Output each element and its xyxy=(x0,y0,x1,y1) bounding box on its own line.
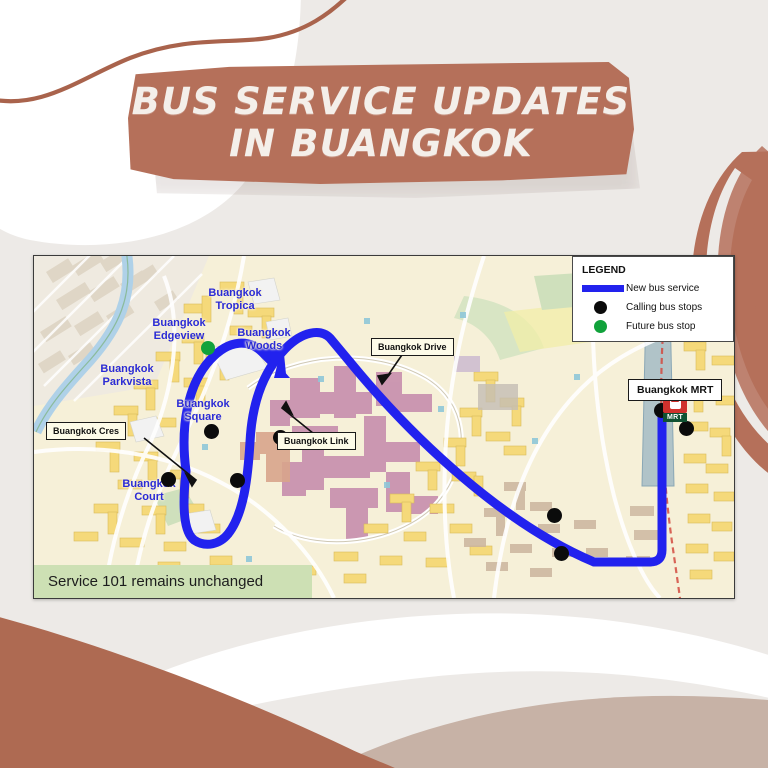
service-note-text: Service 101 remains unchanged xyxy=(48,573,263,590)
legend-item-new-bus-service: New bus service xyxy=(582,281,725,295)
service-note-band: Service 101 remains unchanged xyxy=(34,565,312,598)
callout-buangkok-link[interactable]: Buangkok Link xyxy=(277,432,356,450)
calling-bus-stop[interactable] xyxy=(554,546,569,561)
legend-swatch-green-dot xyxy=(582,320,626,333)
calling-bus-stop[interactable] xyxy=(547,508,562,523)
legend-label-future-bus-stop: Future bus stop xyxy=(626,321,695,332)
title-text-group: Bus Service Updates in Buangkok xyxy=(128,62,634,184)
calling-bus-stop[interactable] xyxy=(161,472,176,487)
legend-swatch-black-dot xyxy=(582,301,626,314)
legend-panel: LEGEND New bus service Calling bus stops… xyxy=(572,256,734,342)
poster-canvas: Bus Service Updates in Buangkok xyxy=(0,0,768,768)
title-banner: Bus Service Updates in Buangkok xyxy=(128,62,640,190)
mrt-label: MRT xyxy=(663,413,687,422)
calling-bus-stop[interactable] xyxy=(679,421,694,436)
map-container[interactable]: Buangkok Tropica Buangkok Edgeview Buang… xyxy=(33,255,735,599)
page-title-line-2: in Buangkok xyxy=(229,124,533,164)
future-bus-stop[interactable] xyxy=(201,341,215,355)
callout-buangkok-mrt[interactable]: Buangkok MRT xyxy=(628,379,722,401)
legend-swatch-line xyxy=(582,285,626,292)
legend-label-new-bus-service: New bus service xyxy=(626,283,699,294)
page-title-line-1: Bus Service Updates xyxy=(132,82,631,122)
legend-item-calling-bus-stops: Calling bus stops xyxy=(582,300,725,314)
callout-buangkok-cres[interactable]: Buangkok Cres xyxy=(46,422,126,440)
calling-bus-stop[interactable] xyxy=(204,424,219,439)
legend-title: LEGEND xyxy=(582,264,725,276)
calling-bus-stop[interactable] xyxy=(230,473,245,488)
callout-buangkok-drive[interactable]: Buangkok Drive xyxy=(371,338,454,356)
legend-label-calling-bus-stops: Calling bus stops xyxy=(626,302,702,313)
legend-item-future-bus-stop: Future bus stop xyxy=(582,319,725,333)
